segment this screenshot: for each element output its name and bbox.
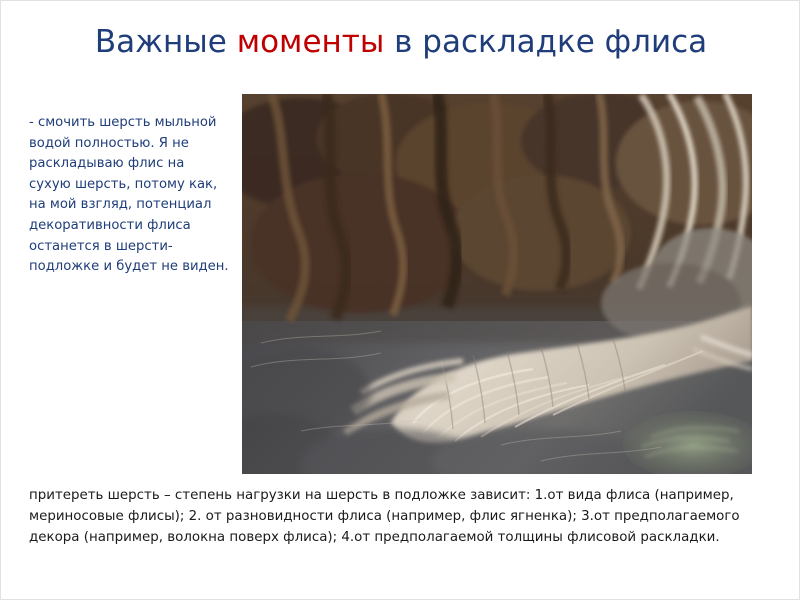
title-part-3: в раскладке флиса bbox=[384, 24, 707, 60]
slide: Важные моменты в раскладке флиса - смочи… bbox=[0, 0, 800, 600]
left-body-text: - смочить шерсть мыльной водой полностью… bbox=[29, 113, 229, 278]
wool-photo bbox=[241, 93, 753, 475]
page-title: Важные моменты в раскладке флиса bbox=[1, 23, 800, 61]
title-part-accent: моменты bbox=[237, 24, 385, 60]
bottom-caption: притереть шерсть – степень нагрузки на ш… bbox=[29, 485, 773, 548]
title-part-1: Важные bbox=[95, 24, 237, 60]
